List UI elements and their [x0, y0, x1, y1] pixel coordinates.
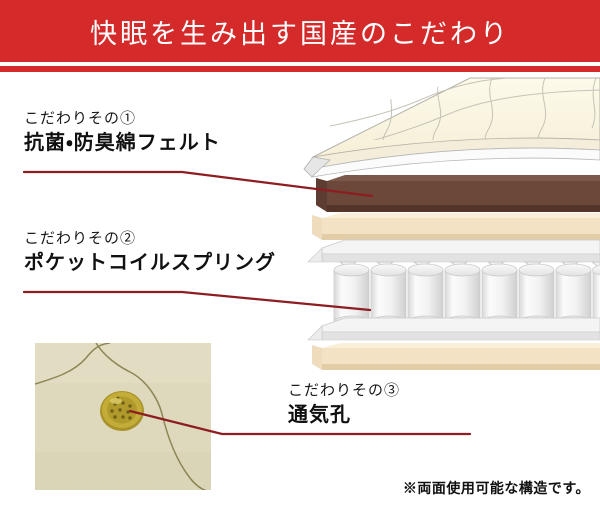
feature-name-3: 通気孔	[288, 402, 400, 427]
feature-index-2: こだわりその②	[24, 230, 276, 247]
ventilation-grommet-photo	[35, 343, 211, 492]
layer-lower-spring-sheet	[308, 318, 600, 340]
layer-quilted-top-cover	[304, 78, 600, 177]
footnote-text: ※両面使用可能な構造です。	[403, 478, 590, 498]
feature-index-3: こだわりその③	[288, 382, 400, 399]
layer-upper-spring-sheet	[308, 240, 600, 262]
leader-line-coil	[24, 292, 370, 310]
feature-name-1: 抗菌・防臭綿フェルト	[24, 130, 221, 155]
feature-label-felt: こだわりその① 抗菌・防臭綿フェルト	[24, 110, 221, 155]
feature-index-1: こだわりその①	[24, 110, 221, 127]
layer-urethane-pad	[312, 213, 600, 240]
infographic-page: 快眠を生み出す国産のこだわり	[0, 0, 600, 515]
feature-name-2: ポケットコイルスプリング	[24, 250, 276, 275]
layer-bottom-pad	[312, 343, 600, 370]
feature-label-coil: こだわりその② ポケットコイルスプリング	[24, 230, 276, 275]
feature-label-vent: こだわりその③ 通気孔	[288, 382, 400, 427]
grommet-icon	[100, 391, 144, 431]
